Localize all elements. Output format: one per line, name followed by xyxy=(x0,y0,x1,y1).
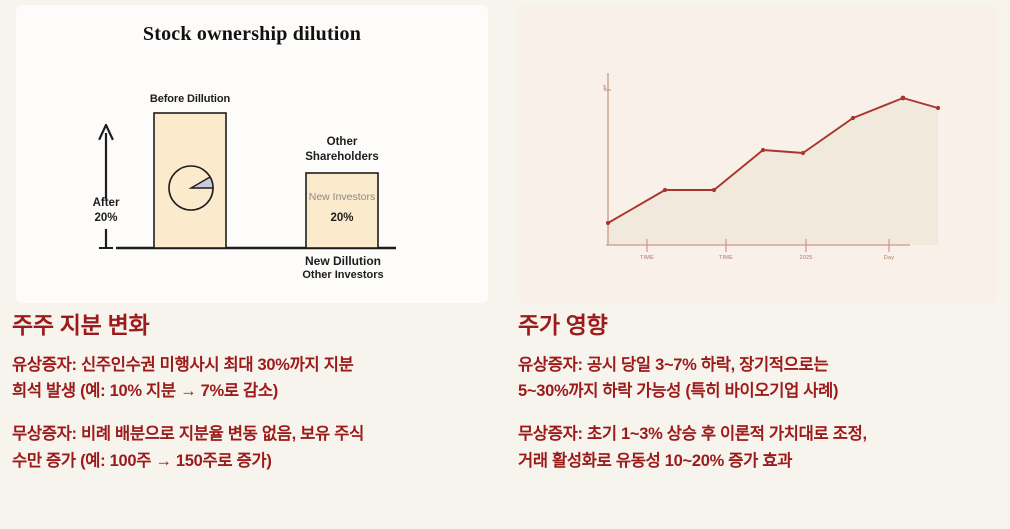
bar-before-dilution-label: Before Dillution xyxy=(128,93,252,105)
bar-after-dilution-label-line2: Shareholders xyxy=(294,150,390,165)
new-investors-label: New Investors xyxy=(306,191,378,203)
after-label: After xyxy=(74,197,138,209)
x-tick-label-3: Day xyxy=(869,255,909,261)
after-axis-arrow xyxy=(99,125,113,248)
slide-root: Stock ownership dilution xyxy=(0,0,1010,529)
price-chart-card: $ TIME TIME 2025 Day xyxy=(518,5,998,303)
y-axis-tick-label: $ xyxy=(596,85,606,91)
bar-after-dilution-label-line1: Other xyxy=(298,135,386,150)
bar-after-dilution xyxy=(306,173,378,248)
caption-other-investors: Other Investors xyxy=(294,269,392,281)
bar-before-dilution xyxy=(154,113,226,248)
new-investors-value: 20% xyxy=(306,212,378,224)
image-cards-row: Stock ownership dilution xyxy=(0,0,1010,310)
x-tick-label-1: TIME xyxy=(706,255,746,261)
paragraph-right-2: 무상증자: 초기 1~3% 상승 후 이론적 가치대로 조정, 거래 활성화로 … xyxy=(518,421,998,474)
x-tick-label-2: 2025 xyxy=(786,255,826,261)
paragraph-right-1: 유상증자: 공시 당일 3~7% 하락, 장기적으로는 5~30%까지 하락 가… xyxy=(518,352,998,405)
caption-new-dilution: New Dillution xyxy=(298,254,388,268)
dilution-diagram-card: Stock ownership dilution xyxy=(16,5,488,303)
paragraph-left-1: 유상증자: 신주인수권 미행사시 최대 30%까지 지분 희석 발생 (예: 1… xyxy=(12,352,492,405)
column-price-impact: 주가 영향 유상증자: 공시 당일 3~7% 하락, 장기적으로는 5~30%까… xyxy=(518,312,998,490)
column-shareholding-change: 주주 지분 변화 유상증자: 신주인수권 미행사시 최대 30%까지 지분 희석… xyxy=(12,312,492,490)
after-value: 20% xyxy=(74,212,138,224)
dilution-diagram-svg xyxy=(16,5,488,303)
paragraph-left-2: 무상증자: 비례 배분으로 지분율 변동 없음, 보유 주식 수만 증가 (예:… xyxy=(12,421,492,474)
text-columns: 주주 지분 변화 유상증자: 신주인수권 미행사시 최대 30%까지 지분 희석… xyxy=(0,312,1010,529)
x-tick-label-0: TIME xyxy=(627,255,667,261)
column-heading-right: 주가 영향 xyxy=(518,312,998,340)
column-heading-left: 주주 지분 변화 xyxy=(12,312,492,340)
price-line-chart-svg xyxy=(518,5,998,303)
chart-area-fill xyxy=(608,98,938,245)
